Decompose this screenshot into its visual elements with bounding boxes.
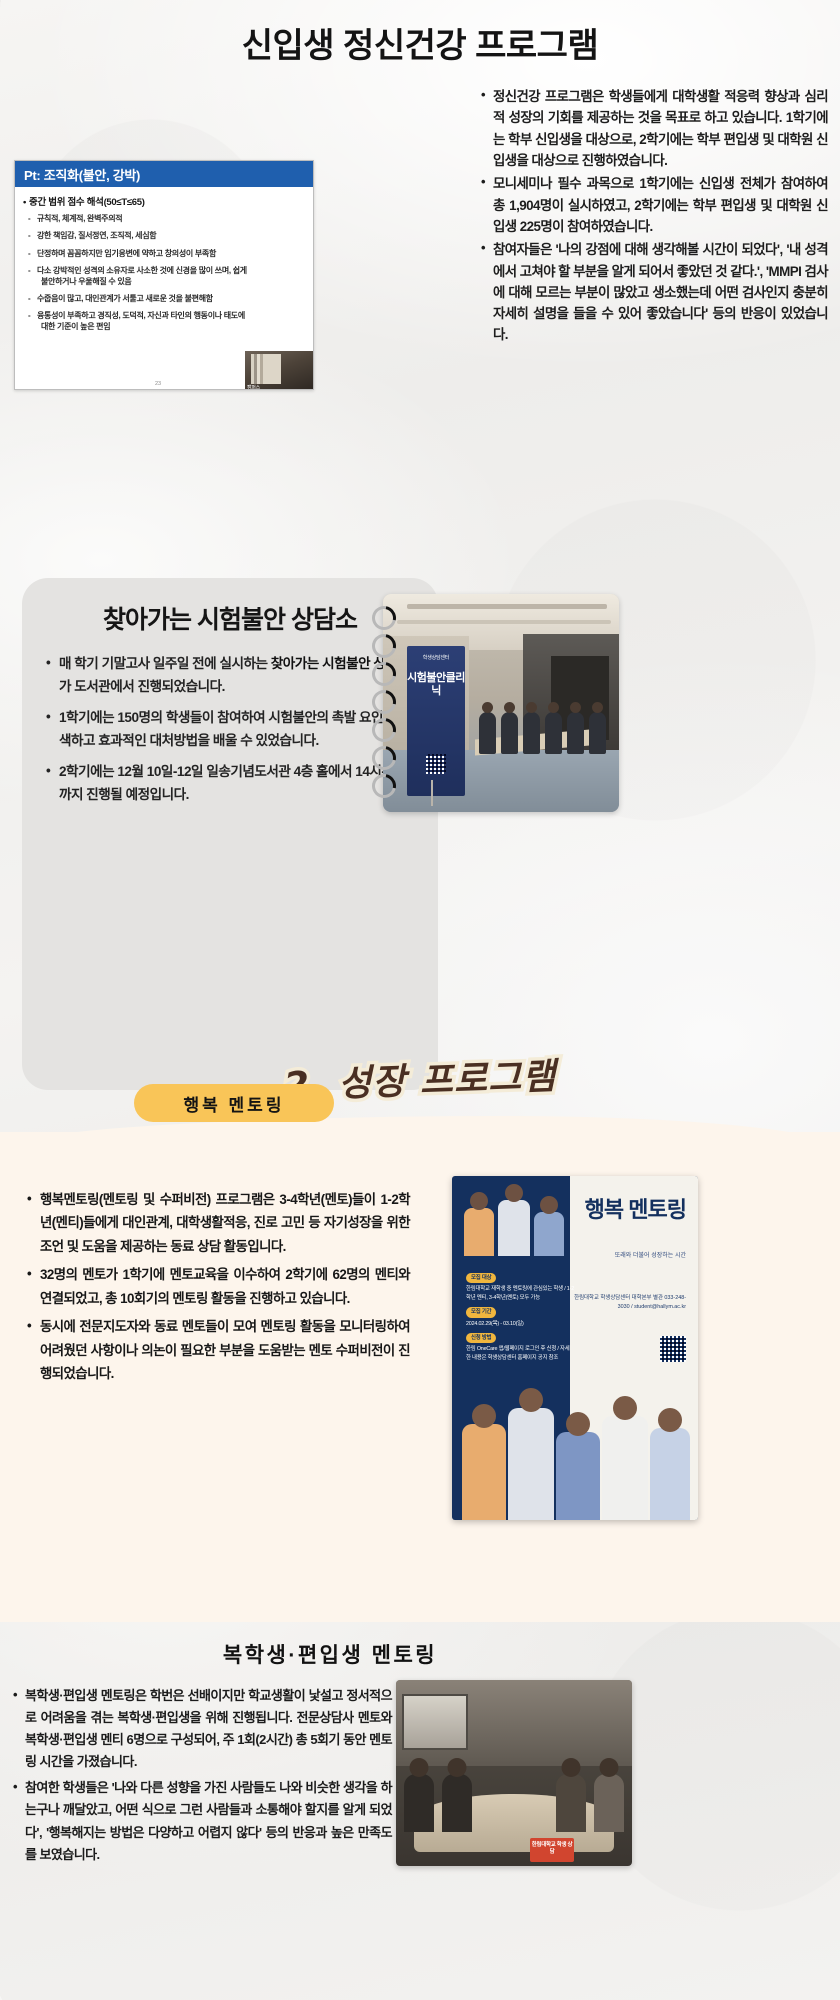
happy-mentoring-bullet-list: 행복멘토링(멘토링 및 수퍼비전) 프로그램은 3-4학년(멘토)들이 1-2학… <box>26 1188 410 1386</box>
returning-students-bullet-list: 복학생·편입생 멘토링은 학번은 선배이지만 학교생활이 낯설고 정서적으로 어… <box>12 1685 392 1866</box>
returning-students-bullet: 참여한 학생들은 '나와 다른 성향을 가진 사람들도 나와 비슷한 생각을 하… <box>12 1777 392 1865</box>
poster-figures-top <box>464 1186 572 1256</box>
slide-body: •중간 범위 점수 해석(50≤T≤65) - 규칙적, 체계적, 완벽주의적 … <box>15 187 313 390</box>
slide-heading-text: 중간 범위 점수 해석(50≤T≤65) <box>29 197 145 208</box>
poster-info-body: 한림 OneCare 앱/웹페이지 로그인 후 신청 / 자세한 내용은 학생상… <box>466 1345 574 1362</box>
returning-students-bullet: 복학생·편입생 멘토링은 학번은 선배이지만 학교생활이 낯설고 정서적으로 어… <box>12 1685 392 1773</box>
intro-bullet: 참여자들은 '나의 강점에 대해 생각해볼 시간이 되었다', '내 성격에서 … <box>480 239 828 346</box>
poster-figure <box>556 1432 600 1520</box>
exam-anxiety-photo: 학생상담센터 시험불안클리닉 <box>383 594 619 812</box>
poster-figure <box>602 1416 648 1520</box>
returning-students-title: 복학생·편입생 멘토링 <box>0 1639 660 1669</box>
photo-ceiling-bar <box>407 604 607 609</box>
slide-list-item: - 다소 강박적인 성격의 소유자로 사소한 것에 신경을 많이 쓰며, 쉽게 … <box>37 266 305 288</box>
poster-info-body: 한림대학교 재학생 중 멘토링에 관심있는 학생 / 1-2학년 멘티, 3-4… <box>466 1285 574 1302</box>
slide-item-text: 다소 강박적인 성격의 소유자로 사소한 것에 신경을 많이 쓰며, 쉽게 <box>37 266 247 275</box>
poster-subtitle: 또래와 더불어 성장하는 시간 <box>574 1252 686 1261</box>
dash-icon: - <box>28 214 30 225</box>
poster-info-body: 2024.02.29(목) - 03.10(일) <box>466 1320 574 1328</box>
photo-people <box>479 698 607 754</box>
slide-list-item: - 강한 책임감, 질서정연, 조직적, 세심함 <box>37 231 305 242</box>
dash-icon: - <box>28 311 30 322</box>
poster-figure <box>508 1408 554 1520</box>
exam-anxiety-bullet: 매 학기 기말고사 일주일 전에 실시하는 찾아가는 시험불안 상담소가 도서관… <box>44 652 412 699</box>
slide-item-continuation: 불안하거나 우울해질 수 있음 <box>41 277 305 288</box>
poster-contact: 한림대학교 학생상담센터 대학본부 별관 033-248-3030 / stud… <box>574 1294 686 1311</box>
slide-list-item: - 규칙적, 체계적, 완벽주의적 <box>37 214 305 225</box>
slide-header-text: Pt: 조직화(불안, 강박) <box>24 165 140 184</box>
photo-window <box>402 1694 468 1750</box>
poster-info-label: 신청 방법 <box>466 1333 496 1343</box>
qr-code-icon <box>426 754 446 774</box>
slide-list-item: - 융통성이 부족하고 경직성, 도덕적, 자신과 타인의 행동이나 태도에 대… <box>37 311 305 333</box>
slide-item-continuation: 대한 기준이 높은 편임 <box>41 322 305 333</box>
dash-icon: - <box>28 249 30 260</box>
slide-item-text: 수줍음이 많고, 대인관계가 서툴고 새로운 것을 불편해함 <box>37 294 213 303</box>
photo-red-poster: 한림대학교 학생 상담 <box>530 1838 574 1862</box>
exam-anxiety-bullet-list: 매 학기 기말고사 일주일 전에 실시하는 찾아가는 시험불안 상담소가 도서관… <box>44 652 412 806</box>
slide-list-item: - 단정하며 꼼꼼하지만 임기응변에 약하고 창의성이 부족함 <box>37 249 305 260</box>
dash-icon: - <box>28 294 30 305</box>
poster-info-label: 모집 대상 <box>466 1273 496 1283</box>
photo-banner: 학생상담센터 시험불안클리닉 <box>407 646 465 796</box>
dash-icon: - <box>28 266 30 277</box>
slide-header-bar: Pt: 조직화(불안, 강박) <box>15 161 313 187</box>
happy-mentoring-badge: 행복 멘토링 <box>134 1084 334 1122</box>
happy-mentoring-bullet: 동시에 전문지도자와 동료 멘토들이 모여 멘토링 활동을 모니터링하여 어려웠… <box>26 1315 410 1385</box>
slide-item-text: 규칙적, 체계적, 완벽주의적 <box>37 214 122 223</box>
poster-title: 행복 멘토링 <box>574 1198 686 1222</box>
happy-mentoring-bullet: 32명의 멘토가 1학기에 멘토교육을 이수하여 2학기에 62명의 멘티와 연… <box>26 1263 410 1310</box>
qr-code-icon <box>660 1336 686 1362</box>
happy-mentoring-bullet: 행복멘토링(멘토링 및 수퍼비전) 프로그램은 3-4학년(멘토)들이 1-2학… <box>26 1188 410 1258</box>
poster-figure <box>462 1424 506 1520</box>
intro-bullet: 정신건강 프로그램은 학생들에게 대학생활 적응력 향상과 심리적 성장의 기회… <box>480 86 828 171</box>
happy-mentoring-poster: 행복 멘토링 또래와 더불어 성장하는 시간 모집 대상 한림대학교 재학생 중… <box>452 1176 698 1520</box>
emphasized-term: 정신건강 프로그램 <box>493 89 592 104</box>
slide-list-item: - 수줍음이 많고, 대인관계가 서툴고 새로운 것을 불편해함 <box>37 294 305 305</box>
photo-person <box>404 1774 434 1832</box>
intro-bullet: 모니세미나 필수 과목으로 1학기에는 신입생 전체가 참여하여 총 1,904… <box>480 173 828 237</box>
slide-heading: •중간 범위 점수 해석(50≤T≤65) <box>23 194 305 208</box>
exam-anxiety-bullet: 2학기에는 12월 10일-12일 일송기념도서관 4층 홀에서 14시-17시… <box>44 760 412 807</box>
poster-figure <box>650 1428 690 1520</box>
intro-bullet-list: 정신건강 프로그램은 학생들에게 대학생활 적응력 향상과 심리적 성장의 기회… <box>480 86 828 346</box>
slide-page-number: 23 <box>155 381 161 387</box>
slide-item-text: 강한 책임감, 질서정연, 조직적, 세심함 <box>37 231 156 240</box>
poster-info-label: 모집 기간 <box>466 1307 496 1317</box>
video-caption: 캠퍼스 <box>247 384 260 390</box>
intro-text-block: 정신건강 프로그램은 학생들에게 대학생활 적응력 향상과 심리적 성장의 기회… <box>480 86 828 348</box>
spiral-binding <box>372 606 398 802</box>
emphasized-term: 복학생·편입생 <box>25 1688 97 1703</box>
page-title: 신입생 정신건강 프로그램 <box>0 18 840 67</box>
exam-anxiety-bullet: 1학기에는 150명의 학생들이 참여하여 시험불안의 촉발 요인을 탐색하고 … <box>44 706 412 753</box>
slide-heading-bullet: • <box>23 197 26 208</box>
dash-icon: - <box>28 231 30 242</box>
banner-stand <box>431 780 433 806</box>
photo-ceiling-bar <box>397 620 611 624</box>
photo-person <box>594 1774 624 1832</box>
photo-person <box>556 1774 586 1832</box>
slide-item-text: 단정하며 꼼꼼하지만 임기응변에 약하고 창의성이 부족함 <box>37 249 216 258</box>
bookshelf-graphic <box>251 354 281 384</box>
photo-person <box>442 1774 472 1832</box>
banner-main-text: 시험불안클리닉 <box>407 672 465 698</box>
banner-top-text: 학생상담센터 <box>407 654 465 661</box>
returning-students-photo: 한림대학교 학생 상담 <box>396 1680 632 1866</box>
happy-mentoring-text-block: 행복멘토링(멘토링 및 수퍼비전) 프로그램은 3-4학년(멘토)들이 1-2학… <box>26 1188 410 1391</box>
poster-info-block: 모집 대상 한림대학교 재학생 중 멘토링에 관심있는 학생 / 1-2학년 멘… <box>466 1268 574 1362</box>
slide-item-text: 융통성이 부족하고 경직성, 도덕적, 자신과 타인의 행동이나 태도에 <box>37 311 245 320</box>
slide-video-thumbnail: 캠퍼스 <box>245 351 313 390</box>
returning-students-text-block: 복학생·편입생 멘토링은 학번은 선배이지만 학교생활이 낯설고 정서적으로 어… <box>12 1685 392 1870</box>
slide-screenshot: Pt: 조직화(불안, 강박) •중간 범위 점수 해석(50≤T≤65) - … <box>14 160 314 390</box>
